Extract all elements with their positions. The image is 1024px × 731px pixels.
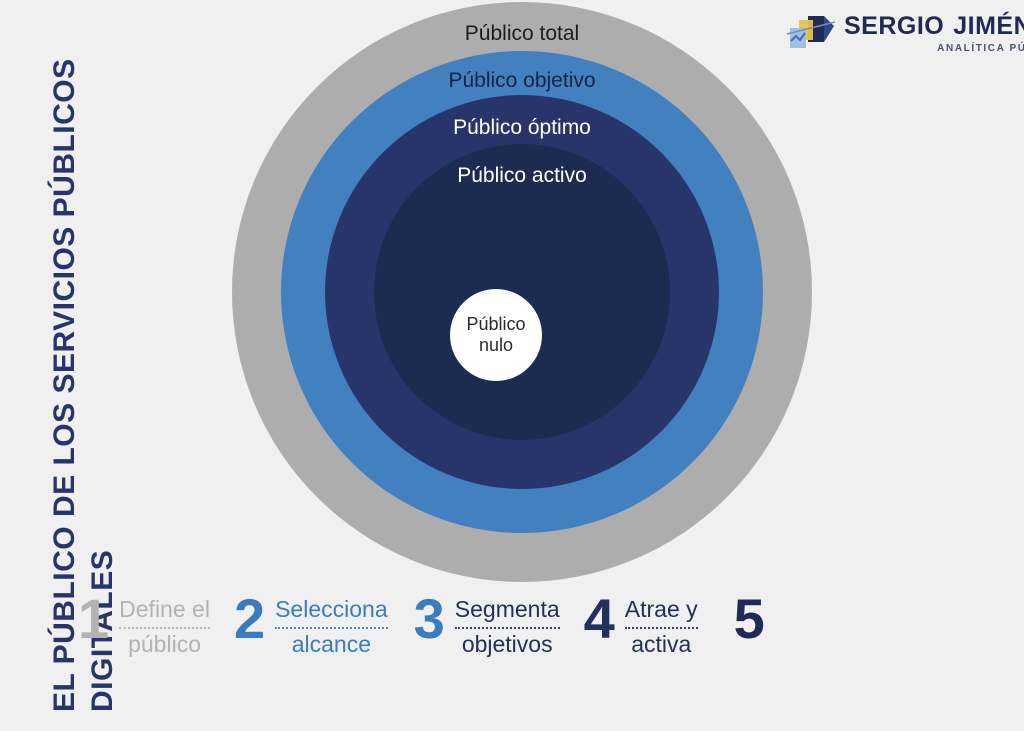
brand-logo-text: SERGIOJIMÉNEZ ANALÍTICA PÚBLICA: [844, 14, 1024, 54]
ring-publico-nulo: Público nulo: [450, 289, 542, 381]
ring-label-objetivo: Público objetivo: [232, 69, 812, 93]
brand-name-last: JIMÉNEZ: [953, 12, 1024, 40]
step-3: 3 Segmenta objetivos: [414, 590, 560, 658]
step-4-label: Atrae y activa: [625, 590, 698, 658]
ring-publico-activo: [374, 144, 670, 440]
step-4-line-1: Atrae y: [625, 596, 698, 624]
step-1-number: 1: [78, 590, 109, 645]
step-3-divider: [455, 627, 560, 629]
step-4-number: 4: [584, 590, 615, 645]
step-1-line-1: Define el: [119, 596, 210, 624]
brand-name: SERGIOJIMÉNEZ: [844, 14, 1024, 39]
step-3-number: 3: [414, 590, 445, 645]
step-3-line-2: objetivos: [455, 631, 560, 659]
step-2-line-2: alcance: [275, 631, 388, 659]
brand-logo: SERGIOJIMÉNEZ ANALÍTICA PÚBLICA: [786, 8, 1018, 60]
ring-label-optimo: Público óptimo: [232, 116, 812, 140]
step-2-divider: [275, 627, 388, 629]
step-4: 4 Atrae y activa: [584, 590, 698, 658]
brand-name-first: SERGIO: [844, 12, 944, 40]
ring-label-total: Público total: [232, 22, 812, 46]
step-1-divider: [119, 627, 210, 629]
ring-label-nulo-line-1: Público: [466, 314, 525, 335]
step-1-label: Define el público: [119, 590, 210, 658]
step-5: 5: [734, 590, 765, 645]
step-2: 2 Selecciona alcance: [234, 590, 388, 658]
step-2-line-1: Selecciona: [275, 596, 388, 624]
step-1: 1 Define el público: [78, 590, 210, 658]
brand-tagline: ANALÍTICA PÚBLICA: [844, 44, 1024, 54]
step-2-number: 2: [234, 590, 265, 645]
step-5-number: 5: [734, 590, 765, 645]
step-4-divider: [625, 627, 698, 629]
step-3-label: Segmenta objetivos: [455, 590, 560, 658]
infographic-canvas: EL PÚBLICO DE LOS SERVICIOS PÚBLICOS DIG…: [0, 0, 1024, 731]
step-2-label: Selecciona alcance: [275, 590, 388, 658]
step-3-line-1: Segmenta: [455, 596, 560, 624]
step-4-line-2: activa: [625, 631, 698, 659]
concentric-circles-diagram: Público total Público objetivo Público ó…: [232, 2, 812, 582]
steps-row: 1 Define el público 2 Selecciona alcance…: [78, 590, 908, 690]
ring-label-nulo-line-2: nulo: [479, 335, 513, 356]
step-1-line-2: público: [119, 631, 210, 659]
ring-label-activo: Público activo: [232, 164, 812, 188]
